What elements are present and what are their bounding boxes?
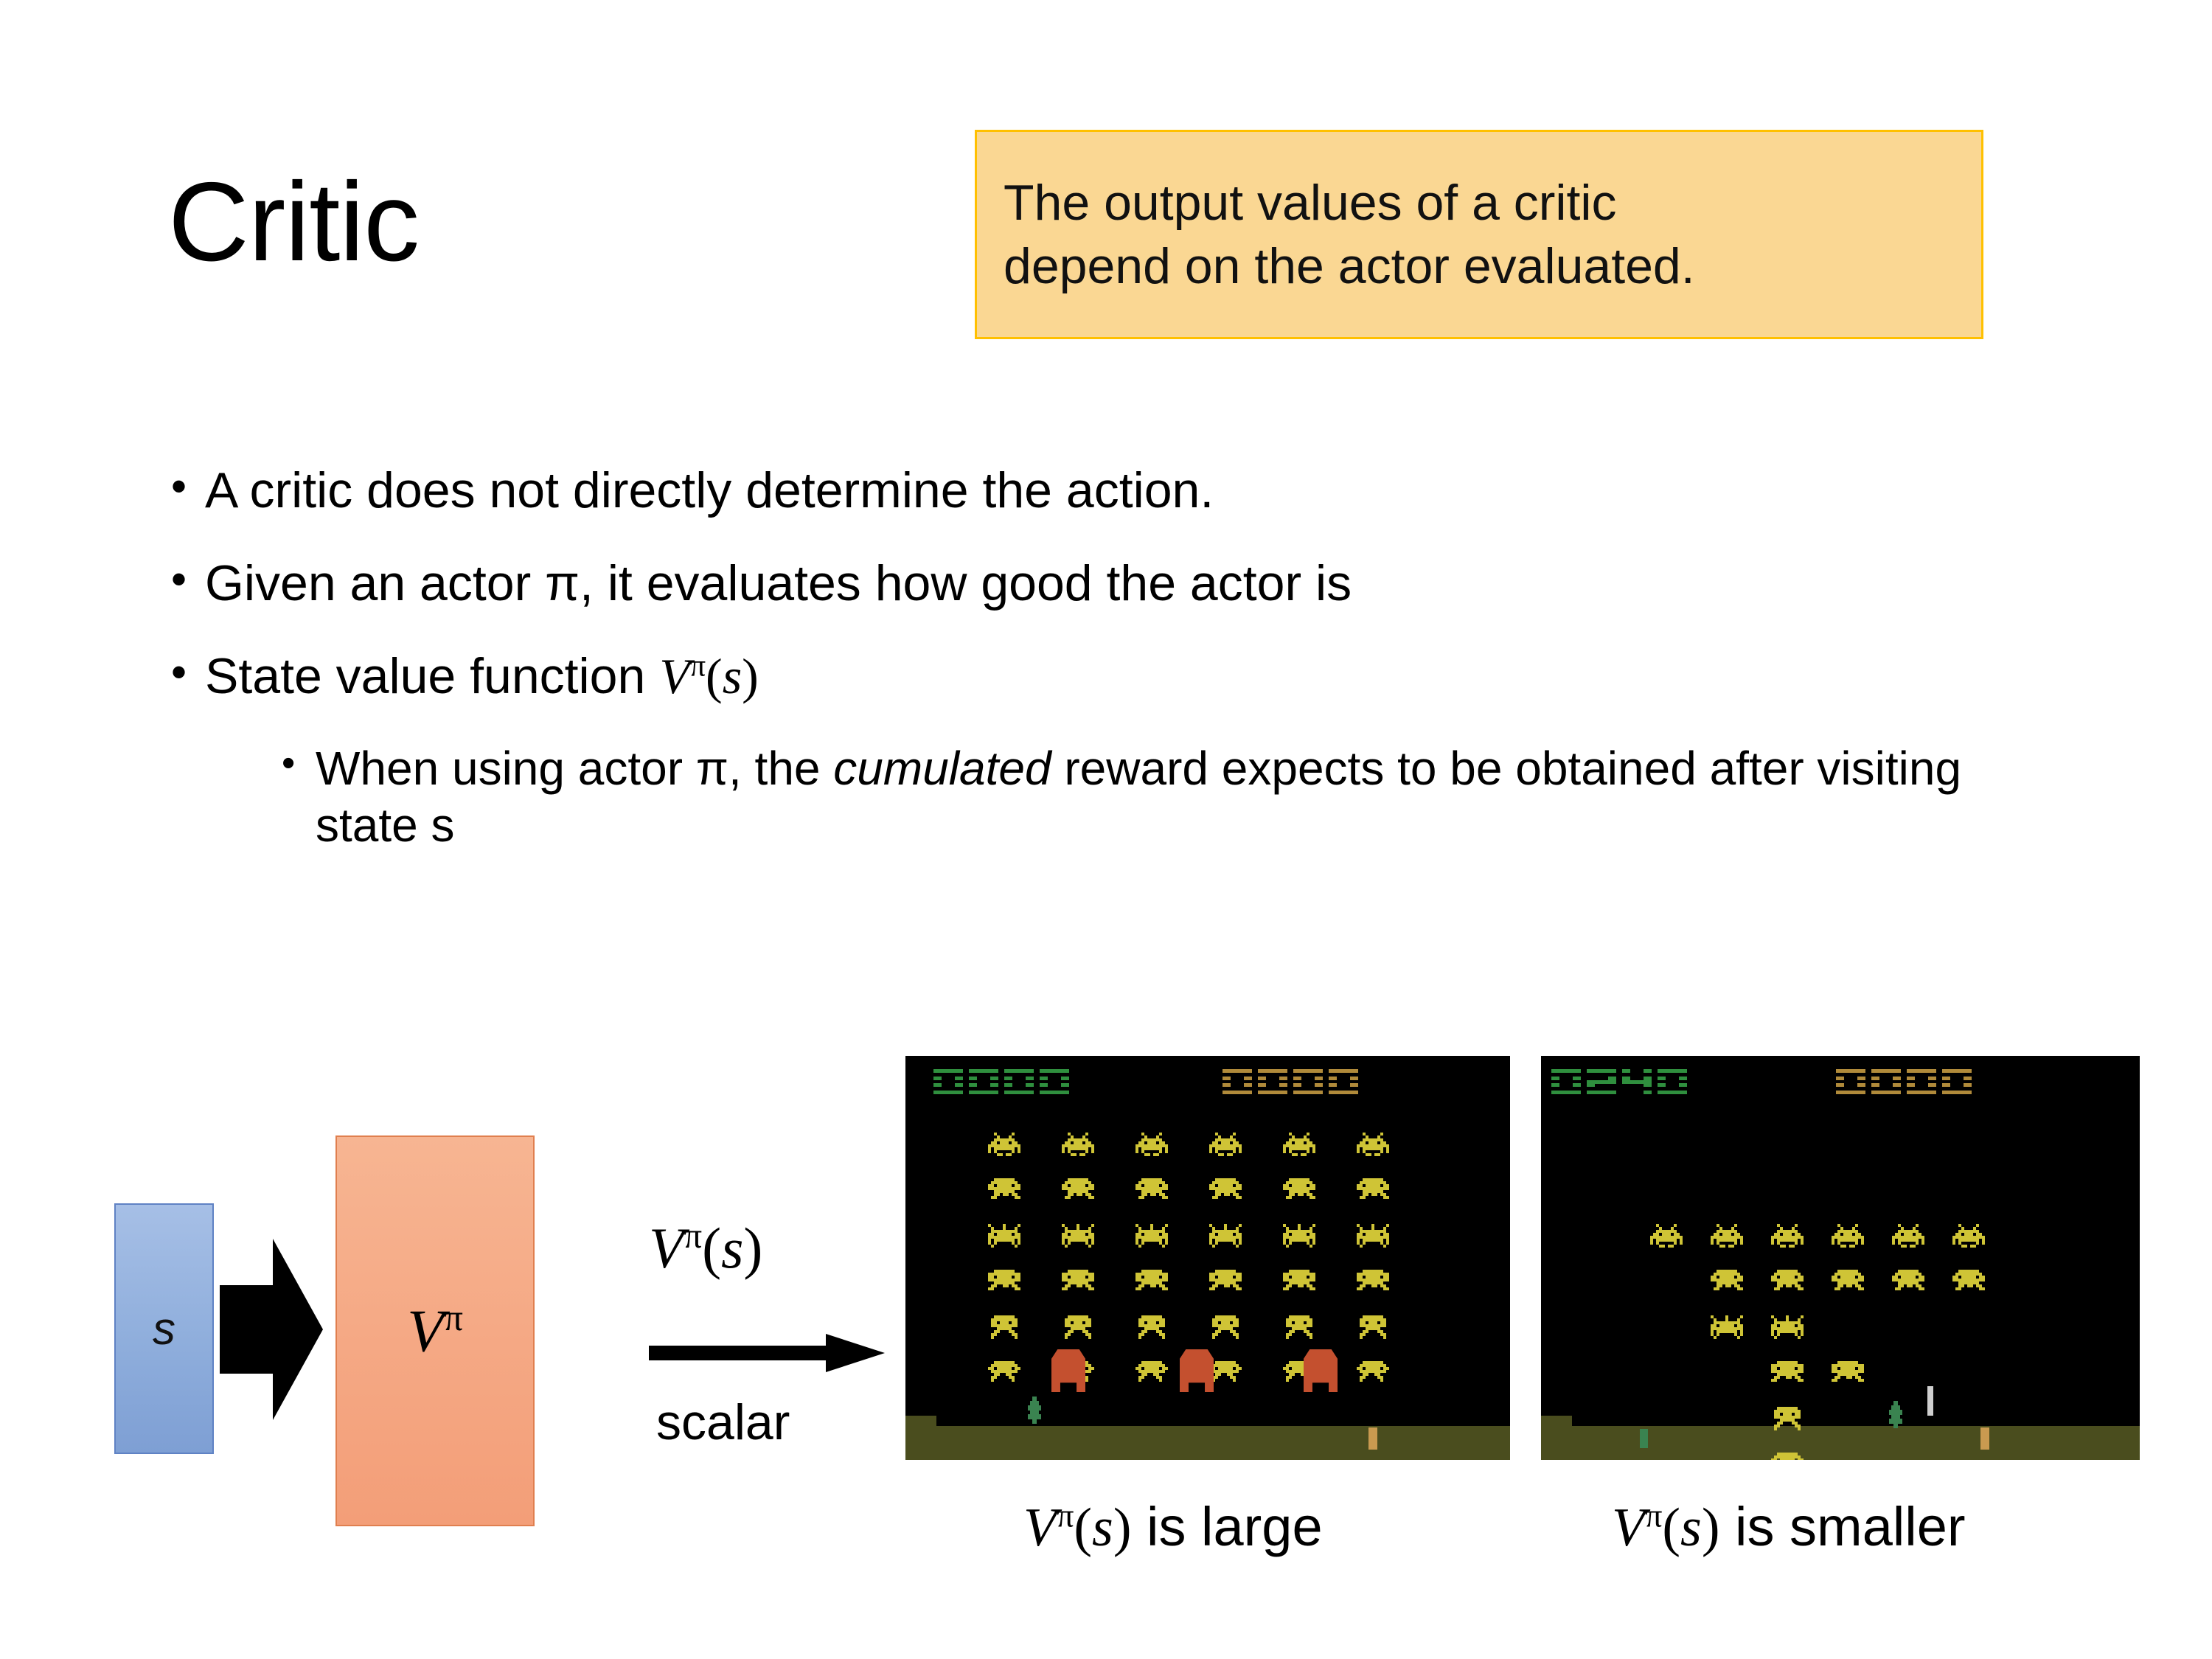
alien-sprite <box>988 1270 1020 1293</box>
ground-marker <box>1980 1427 1989 1450</box>
alien-sprite <box>1062 1224 1094 1248</box>
score-digit <box>1329 1069 1358 1094</box>
bullet-item-3: • State value function Vπ(s) <box>171 647 2088 706</box>
alien-sprite <box>1062 1178 1094 1202</box>
alien-sprite <box>1209 1133 1242 1156</box>
score-digit <box>1942 1069 1972 1094</box>
alien-sprite <box>1357 1315 1389 1339</box>
alien-sprite <box>1771 1224 1804 1248</box>
sub-bullet-item-1: • When using actor π, the cumulated rewa… <box>282 740 2088 854</box>
score-digit <box>1551 1069 1581 1094</box>
alien-sprite <box>1711 1270 1743 1293</box>
score-digit <box>1622 1069 1652 1094</box>
value-function-label: Vπ <box>407 1296 463 1366</box>
alien-sprite <box>988 1361 1020 1385</box>
math-vpi-s: Vπ(s) <box>659 648 759 704</box>
caption-smaller: Vπ(s) is smaller <box>1612 1495 1966 1559</box>
callout-line-1: The output values of a critic <box>1004 171 1955 234</box>
alien-sprite <box>1283 1315 1315 1339</box>
sub-bullet-text-part1: When using actor π, the <box>316 742 833 795</box>
bullet-list: • A critic does not directly determine t… <box>171 461 2088 853</box>
alien-sprite <box>1832 1224 1864 1248</box>
state-label: s <box>153 1303 175 1355</box>
bullet-marker: • <box>171 554 205 606</box>
alien-sprite <box>1062 1133 1094 1156</box>
score-display <box>1551 1069 1687 1094</box>
score-digit <box>1293 1069 1323 1094</box>
alien-sprite <box>1209 1178 1242 1202</box>
bullet-marker: • <box>171 461 205 513</box>
ground-strip <box>905 1426 1510 1460</box>
sub-bullet-text-italic: cumulated <box>833 742 1051 795</box>
alien-sprite <box>1209 1270 1242 1293</box>
alien-sprite <box>988 1133 1020 1156</box>
game-screen-full <box>905 1056 1510 1460</box>
alien-sprite <box>1832 1361 1864 1385</box>
ground-marker <box>1368 1427 1377 1450</box>
alien-sprite <box>1209 1224 1242 1248</box>
score-digit <box>1258 1069 1287 1094</box>
ground-step <box>1541 1416 1572 1426</box>
alien-sprite <box>1135 1178 1168 1202</box>
score-digit <box>969 1069 998 1094</box>
alien-sprite <box>1135 1270 1168 1293</box>
tree-sprite <box>1886 1401 1905 1432</box>
game-screen-partial <box>1541 1056 2140 1460</box>
alien-sprite <box>1283 1133 1315 1156</box>
alien-sprite <box>1952 1270 1985 1293</box>
bullet-text: State value function <box>205 648 659 704</box>
score-display <box>1222 1069 1358 1094</box>
alien-sprite <box>1062 1270 1094 1293</box>
score-digit <box>1658 1069 1687 1094</box>
score-digit <box>1040 1069 1069 1094</box>
sub-bullet-marker: • <box>282 740 316 786</box>
score-display <box>933 1069 1069 1094</box>
alien-sprite <box>1209 1315 1242 1339</box>
shield-sprite <box>1051 1349 1085 1392</box>
callout-box: The output values of a critic depend on … <box>975 130 1983 339</box>
slide-canvas: Critic The output values of a critic dep… <box>0 0 2212 1659</box>
alien-sprite <box>1135 1315 1168 1339</box>
alien-sprite <box>1771 1407 1804 1430</box>
output-value-label: Vπ(s) <box>649 1215 762 1281</box>
page-title: Critic <box>168 166 419 278</box>
value-function-box: Vπ <box>335 1135 535 1526</box>
alien-sprite <box>1135 1224 1168 1248</box>
bullet-marker: • <box>171 647 205 699</box>
scalar-label: scalar <box>656 1394 790 1451</box>
ground-strip <box>1541 1426 2140 1460</box>
ground-step <box>905 1416 936 1426</box>
alien-sprite <box>1952 1224 1985 1248</box>
bullet-text: Given an actor π, it evaluates how good … <box>205 554 1352 613</box>
alien-sprite <box>1832 1270 1864 1293</box>
bullet-text: A critic does not directly determine the… <box>205 461 1214 520</box>
alien-sprite <box>988 1315 1020 1339</box>
score-digit <box>1836 1069 1865 1094</box>
alien-sprite <box>988 1178 1020 1202</box>
laser-shot <box>1927 1386 1933 1416</box>
alien-sprite <box>1209 1361 1242 1385</box>
caption-large: Vπ(s) is large <box>1023 1495 1323 1559</box>
alien-sprite <box>1357 1361 1389 1385</box>
alien-sprite <box>1283 1178 1315 1202</box>
alien-sprite <box>1771 1453 1804 1460</box>
alien-sprite <box>1650 1224 1683 1248</box>
alien-sprite <box>1771 1270 1804 1293</box>
thin-arrow-right-icon <box>649 1331 885 1375</box>
critic-diagram: s Vπ Vπ(s) scalar <box>0 1018 922 1578</box>
alien-sprite <box>1771 1361 1804 1385</box>
alien-sprite <box>1283 1224 1315 1248</box>
score-digit <box>1587 1069 1616 1094</box>
ground-marker-green <box>1640 1429 1648 1448</box>
alien-sprite <box>1711 1224 1743 1248</box>
block-arrow-right-icon <box>220 1222 323 1436</box>
score-display <box>1836 1069 1972 1094</box>
alien-sprite <box>1892 1270 1924 1293</box>
alien-sprite <box>1062 1315 1094 1339</box>
score-digit <box>1907 1069 1936 1094</box>
score-digit <box>1004 1069 1034 1094</box>
alien-sprite <box>1771 1315 1804 1339</box>
alien-sprite <box>1892 1224 1924 1248</box>
shield-sprite <box>1180 1349 1214 1392</box>
score-digit <box>1222 1069 1252 1094</box>
bullet-item-1: • A critic does not directly determine t… <box>171 461 2088 520</box>
alien-sprite <box>1135 1133 1168 1156</box>
alien-sprite <box>988 1224 1020 1248</box>
bullet-item-2: • Given an actor π, it evaluates how goo… <box>171 554 2088 613</box>
alien-sprite <box>1135 1361 1168 1385</box>
callout-line-2: depend on the actor evaluated. <box>1004 234 1955 298</box>
alien-sprite <box>1357 1224 1389 1248</box>
alien-sprite <box>1357 1178 1389 1202</box>
score-digit <box>933 1069 963 1094</box>
alien-sprite <box>1357 1270 1389 1293</box>
alien-sprite <box>1357 1133 1389 1156</box>
alien-sprite <box>1283 1270 1315 1293</box>
tree-sprite <box>1025 1397 1044 1427</box>
score-digit <box>1871 1069 1901 1094</box>
shield-sprite <box>1304 1349 1338 1392</box>
alien-sprite <box>1711 1315 1743 1339</box>
state-input-box: s <box>114 1203 214 1454</box>
